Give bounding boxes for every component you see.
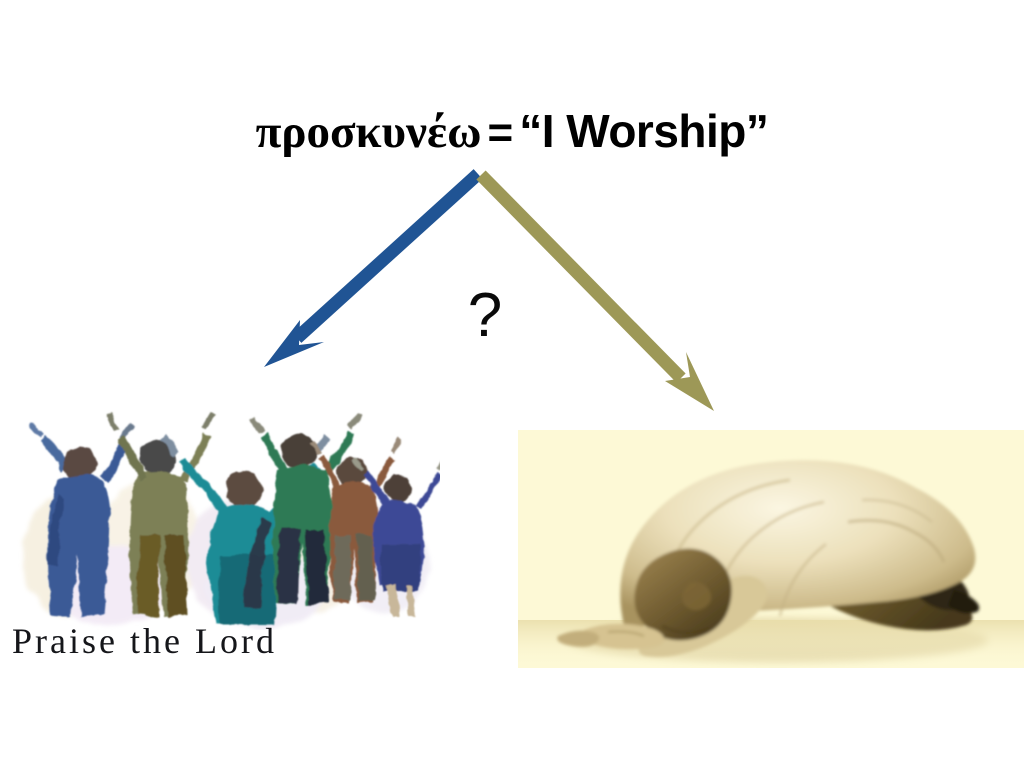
praise-the-lord-clipart: Praise the Lord <box>0 385 440 680</box>
question-mark: ? <box>455 285 515 347</box>
title-english-gloss: “I Worship” <box>519 105 768 157</box>
arrow-right-to-prostration <box>481 175 714 411</box>
praise-the-lord-caption: Praise the Lord <box>12 623 277 659</box>
slide-canvas: προσκυνέω=“I Worship” ? <box>0 0 1024 768</box>
prostration-photo <box>518 430 1024 668</box>
page-title: προσκυνέω=“I Worship” <box>0 108 1024 156</box>
title-greek-term: προσκυνέω <box>256 106 482 158</box>
praise-crowd-illustration <box>0 385 440 630</box>
arrow-left-to-praise <box>264 174 478 367</box>
title-equals-sign: = <box>481 108 519 157</box>
prostration-illustration <box>518 430 1024 668</box>
